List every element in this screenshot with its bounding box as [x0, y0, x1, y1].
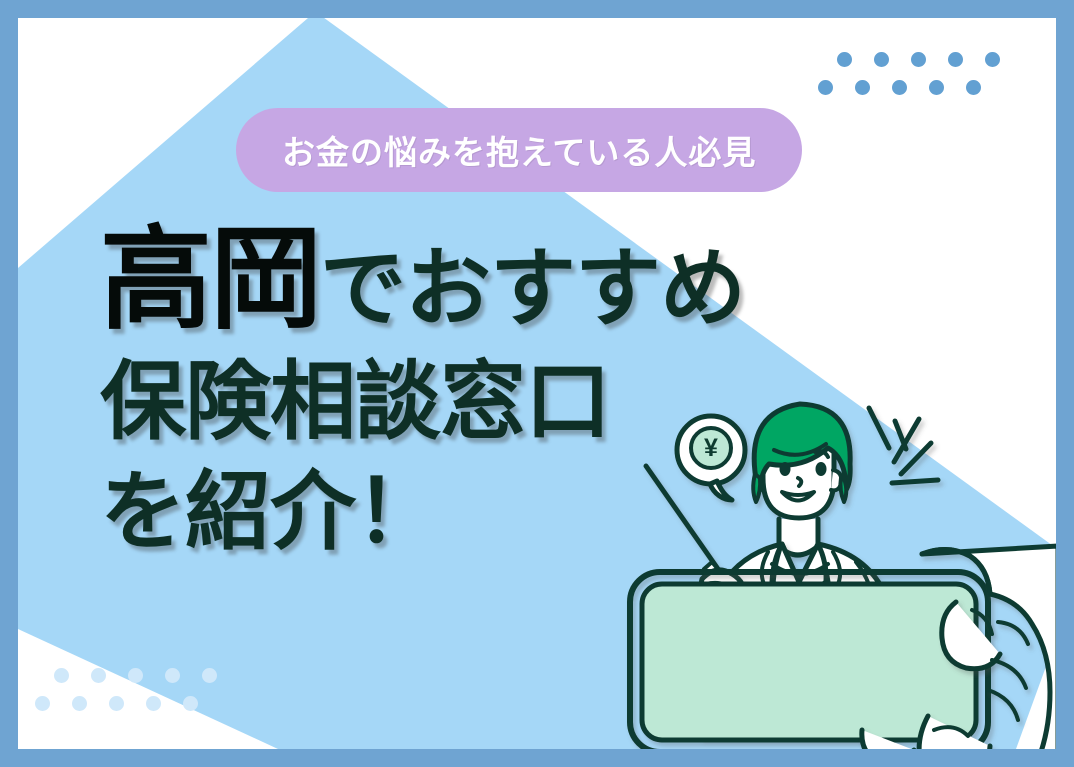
headline-line-1-rest: でおすすめ — [320, 246, 745, 334]
dot — [202, 668, 217, 683]
dot — [892, 80, 907, 95]
decorative-dots-bottom-left — [54, 668, 239, 711]
dot — [948, 52, 963, 67]
yen-symbol-icon: ¥ — [704, 434, 718, 462]
dot — [91, 668, 106, 683]
dot — [35, 696, 50, 711]
dot — [966, 80, 981, 95]
dot — [837, 52, 852, 67]
dot — [911, 52, 926, 67]
dot — [855, 80, 870, 95]
dot — [985, 52, 1000, 67]
dot — [165, 668, 180, 683]
dot — [128, 668, 143, 683]
dot — [72, 696, 87, 711]
banner-canvas: お金の悩みを抱えている人必見 高岡 でおすすめ 保険相談窓口 を紹介！ — [18, 18, 1056, 749]
decorative-dots-top-right — [837, 52, 1022, 95]
headline-line-1: 高岡 でおすすめ — [100, 223, 740, 337]
headline-line-2-text: 保険相談窓口 — [100, 359, 610, 447]
dot — [146, 696, 161, 711]
dot — [183, 696, 198, 711]
dot — [818, 80, 833, 95]
dot — [874, 52, 889, 67]
headline-line-3-text: を紹介！ — [100, 469, 440, 557]
dot — [54, 668, 69, 683]
illustration-woman-presenter: ¥ — [622, 386, 1056, 749]
tagline-badge: お金の悩みを抱えている人必見 — [236, 108, 802, 192]
tagline-text: お金の悩みを抱えている人必見 — [282, 126, 756, 174]
dot — [109, 696, 124, 711]
headline-city: 高岡 — [100, 223, 320, 337]
sparkle-lines — [869, 408, 938, 483]
dot — [929, 80, 944, 95]
woman-figure — [753, 404, 850, 555]
